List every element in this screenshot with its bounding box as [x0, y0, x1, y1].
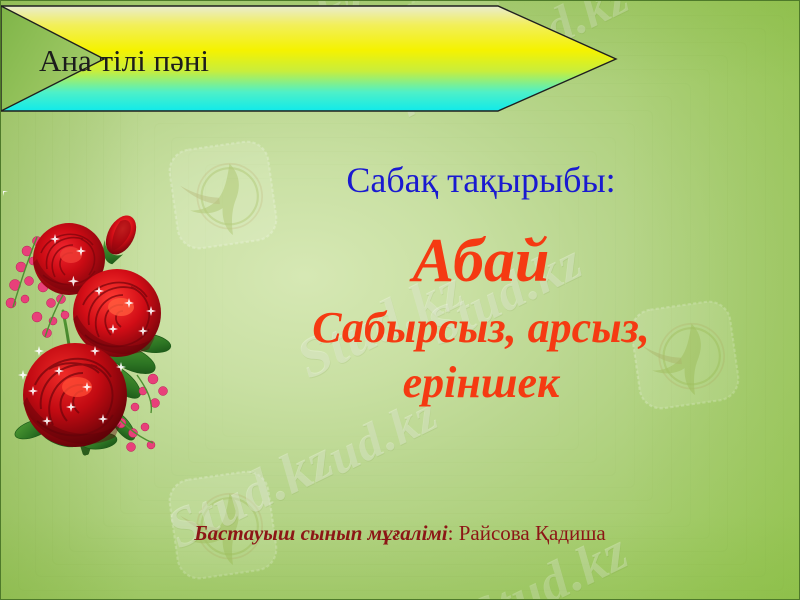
lesson-topic-label: Сабақ тақырыбы: [181, 161, 781, 201]
credit-separator: : [448, 521, 459, 545]
slide-subject-title: Ана тілі пәні [39, 45, 209, 76]
lesson-topic-line-2: еріншек [181, 355, 781, 410]
teacher-role: Бастауыш сынып мұғалімі [194, 521, 447, 545]
slide-content: Сабақ тақырыбы: Абай Сабырсыз, арсыз, ер… [181, 161, 781, 410]
rose-bouquet-image [3, 191, 189, 471]
lesson-topic-line-1: Сабырсыз, арсыз, [181, 300, 781, 355]
lesson-topic-name: Абай [181, 229, 781, 294]
presentation-slide: Stud.kzkz - Stud.kzStud.kzStud.kzStud.kz… [0, 0, 800, 600]
header-ribbon: Ана тілі пәні [1, 1, 661, 121]
teacher-credit: Бастауыш сынып мұғалімі: Райсова Қадиша [1, 521, 799, 546]
teacher-name: Райсова Қадиша [459, 521, 606, 545]
